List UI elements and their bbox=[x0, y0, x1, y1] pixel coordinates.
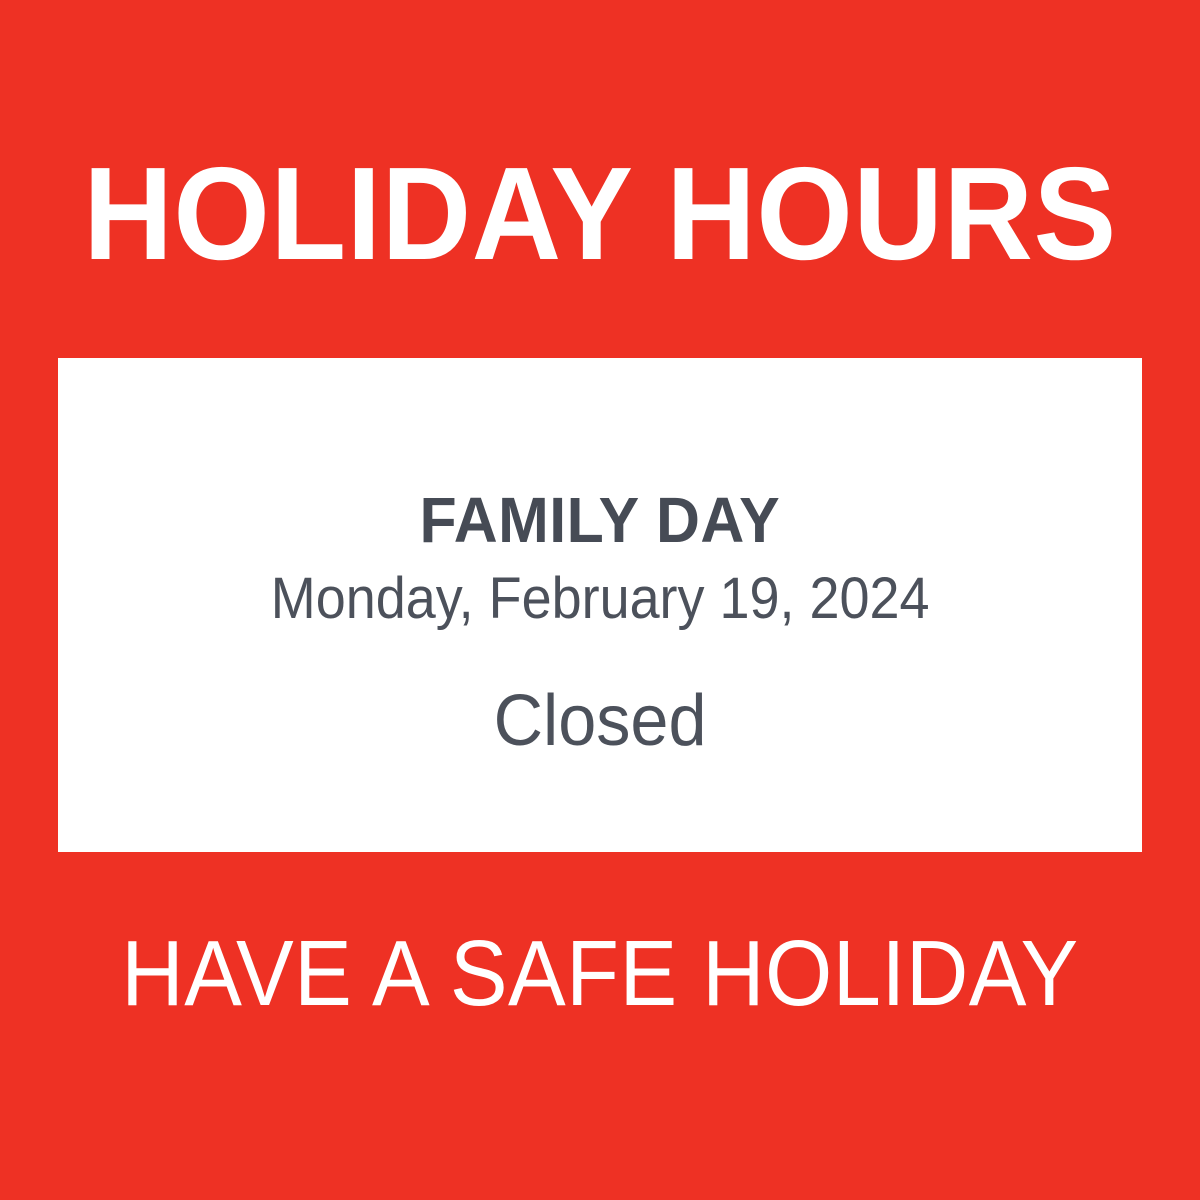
status-badge: Closed bbox=[494, 681, 707, 761]
event-date: Monday, February 19, 2024 bbox=[271, 567, 930, 631]
footer-message: HAVE A SAFE HOLIDAY bbox=[42, 925, 1158, 1021]
holiday-hours-poster: HOLIDAY HOURS FAMILY DAY Monday, Februar… bbox=[0, 0, 1200, 1200]
holiday-detail-card: FAMILY DAY Monday, February 19, 2024 Clo… bbox=[58, 358, 1142, 852]
event-name: FAMILY DAY bbox=[420, 485, 781, 555]
page-title: HOLIDAY HOURS bbox=[36, 149, 1164, 279]
